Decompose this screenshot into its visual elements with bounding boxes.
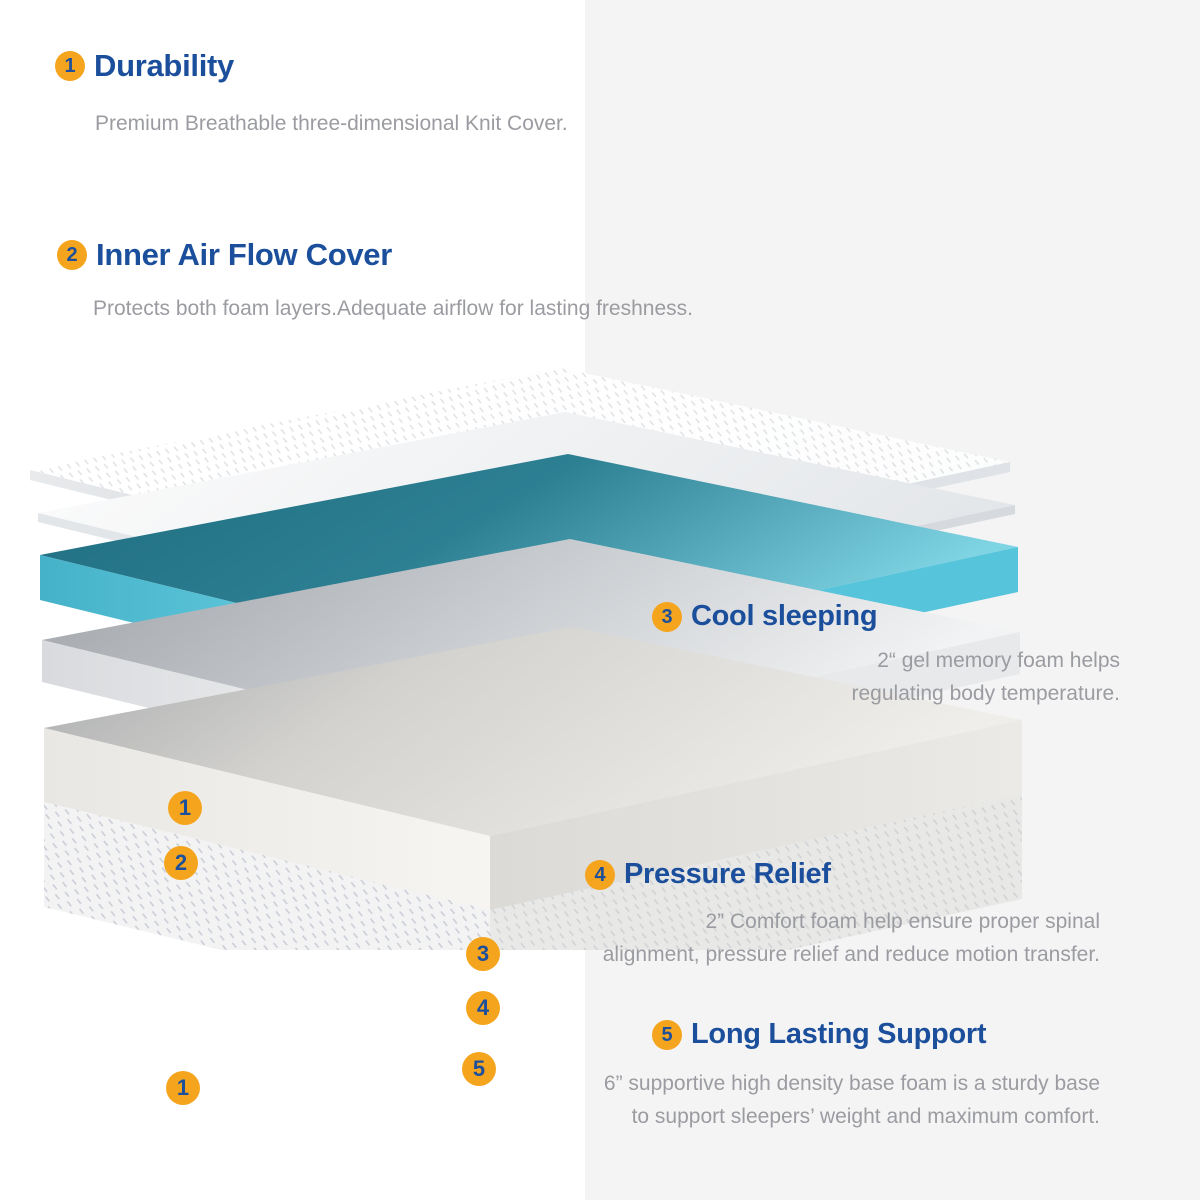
feature-5-description-line-2: to support sleepers’ weight and maximum … (604, 1101, 1100, 1134)
feature-4-headline: 4 Pressure Relief (585, 858, 831, 891)
layer-marker-2: 2 (164, 846, 198, 880)
feature-3-headline: 3 Cool sleeping (652, 600, 877, 633)
layer-marker-4: 4 (466, 991, 500, 1025)
feature-2-description: Protects both foam layers.Adequate airfl… (93, 293, 693, 326)
feature-5-title: Long Lasting Support (691, 1018, 986, 1051)
feature-5-headline: 5 Long Lasting Support (652, 1018, 986, 1051)
feature-5-description-line-1: 6” supportive high density base foam is … (604, 1068, 1100, 1101)
feature-3-badge: 3 (652, 602, 682, 632)
feature-1-description: Premium Breathable three-dimensional Kni… (95, 108, 568, 141)
feature-3-title: Cool sleeping (691, 600, 877, 633)
feature-4-description: 2” Comfort foam help ensure proper spina… (603, 906, 1100, 971)
feature-4-description-line-2: alignment, pressure relief and reduce mo… (603, 939, 1100, 972)
feature-3-description-line-2: regulating body temperature. (852, 678, 1121, 711)
feature-2-title: Inner Air Flow Cover (96, 237, 392, 273)
layer-marker-3: 3 (466, 937, 500, 971)
layer-marker-1: 1 (168, 791, 202, 825)
feature-4-badge: 4 (585, 860, 615, 890)
feature-1-title: Durability (94, 48, 234, 84)
feature-2-badge: 2 (57, 240, 87, 270)
feature-3-description: 2“ gel memory foam helps regulating body… (852, 645, 1121, 710)
feature-1-badge: 1 (55, 51, 85, 81)
feature-1-headline: 1 Durability (55, 48, 234, 84)
feature-3-description-line-1: 2“ gel memory foam helps (852, 645, 1121, 678)
feature-4-title: Pressure Relief (624, 858, 831, 891)
layer-marker-5: 5 (462, 1052, 496, 1086)
feature-5-description: 6” supportive high density base foam is … (604, 1068, 1100, 1133)
feature-4-description-line-1: 2” Comfort foam help ensure proper spina… (603, 906, 1100, 939)
feature-5-badge: 5 (652, 1020, 682, 1050)
layer-marker-1-base: 1 (166, 1071, 200, 1105)
feature-2-headline: 2 Inner Air Flow Cover (57, 237, 392, 273)
